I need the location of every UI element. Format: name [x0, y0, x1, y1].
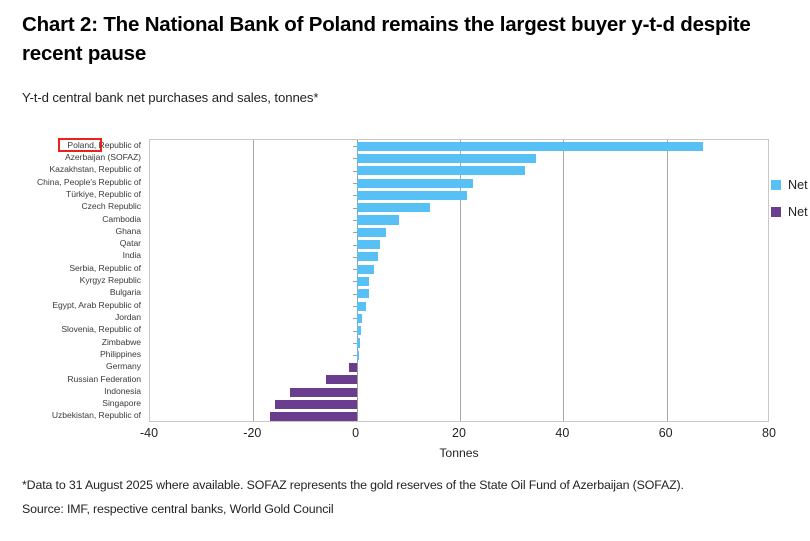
legend-swatch-net-purchases: [771, 180, 781, 190]
bar-row: [150, 152, 768, 164]
bar-china-people-s-republic-of: [357, 179, 474, 188]
category-label: Philippines: [100, 349, 141, 359]
bar-philippines: [357, 351, 359, 360]
bar-row: [150, 189, 768, 201]
bar-row: [150, 177, 768, 189]
category-label: Zimbabwe: [102, 337, 141, 347]
x-tick-label-0: 0: [352, 426, 359, 440]
x-axis: -40-20020406080 Tonnes: [149, 422, 769, 462]
bar-poland-republic-of: [357, 142, 703, 151]
footnote-data: *Data to 31 August 2025 where available.…: [22, 479, 802, 491]
bar-t-rkiye-republic-of: [357, 191, 467, 200]
title-block: Chart 2: The National Bank of Poland rem…: [22, 10, 790, 68]
bar-row: [150, 165, 768, 177]
bar-qatar: [357, 240, 381, 249]
category-label: India: [123, 250, 141, 260]
bar-row: [150, 238, 768, 250]
bar-indonesia: [290, 388, 357, 397]
legend-swatch-net-sales: [771, 207, 781, 217]
category-label: Ghana: [115, 226, 141, 236]
bar-uzbekistan-republic-of: [270, 412, 357, 421]
bar-row: [150, 202, 768, 214]
x-axis-title: Tonnes: [149, 446, 769, 460]
category-label: Czech Republic: [82, 201, 142, 211]
category-label: Uzbekistan, Republic of: [52, 410, 141, 420]
legend-item-net-sales: Net sales: [771, 205, 810, 219]
chart-subtitle: Y-t-d central bank net purchases and sal…: [22, 90, 318, 105]
bar-row: [150, 325, 768, 337]
bar-kyrgyz-republic: [357, 277, 369, 286]
legend-label-net-sales: Net sales: [788, 205, 810, 219]
bar-czech-republic: [357, 203, 430, 212]
plot-area: Net purchases Net sales: [149, 139, 769, 422]
bar-row: [150, 312, 768, 324]
bar-row: [150, 226, 768, 238]
category-label: Serbia, Republic of: [69, 263, 141, 273]
bar-ghana: [357, 228, 386, 237]
category-label: Singapore: [102, 398, 141, 408]
category-label: Türkiye, Republic of: [66, 189, 141, 199]
category-label: Germany: [106, 361, 141, 371]
bar-row: [150, 214, 768, 226]
bar-row: [150, 361, 768, 373]
category-label: Bulgaria: [110, 287, 141, 297]
category-label: Qatar: [120, 238, 141, 248]
bar-row: [150, 349, 768, 361]
x-tick-label--40: -40: [140, 426, 158, 440]
bar-row: [150, 251, 768, 263]
bar-azerbaijan-sofaz: [357, 154, 537, 163]
bar-germany: [349, 363, 356, 372]
x-tick-label--20: -20: [243, 426, 261, 440]
bar-egypt-arab-republic-of: [357, 302, 366, 311]
bar-row: [150, 386, 768, 398]
x-tick-label-80: 80: [762, 426, 776, 440]
bar-row: [150, 140, 768, 152]
category-axis-labels: Poland, Republic ofAzerbaijan (SOFAZ)Kaz…: [0, 139, 145, 422]
category-label: Kyrgyz Republic: [80, 275, 141, 285]
category-label: China, People's Republic of: [37, 177, 141, 187]
x-tick-label-20: 20: [452, 426, 466, 440]
bar-russian-federation: [326, 375, 356, 384]
bar-india: [357, 252, 378, 261]
chart-footer: *Data to 31 August 2025 where available.…: [22, 479, 802, 528]
bar-singapore: [275, 400, 357, 409]
category-label: Cambodia: [102, 214, 141, 224]
bar-row: [150, 398, 768, 410]
category-label: Kazakhstan, Republic of: [49, 164, 141, 174]
bar-row: [150, 300, 768, 312]
category-label: Jordan: [115, 312, 141, 322]
bar-slovenia-republic-of: [357, 326, 361, 335]
footnote-source: Source: IMF, respective central banks, W…: [22, 503, 802, 515]
category-label: Slovenia, Republic of: [61, 324, 141, 334]
x-tick-label-40: 40: [555, 426, 569, 440]
category-label: Indonesia: [104, 386, 141, 396]
bar-kazakhstan-republic-of: [357, 166, 525, 175]
bar-bulgaria: [357, 289, 369, 298]
category-label: Egypt, Arab Republic of: [52, 300, 141, 310]
legend-item-net-purchases: Net purchases: [771, 178, 810, 192]
bar-jordan: [357, 314, 363, 323]
category-label: Russian Federation: [67, 374, 141, 384]
category-label: Azerbaijan (SOFAZ): [65, 152, 141, 162]
bar-row: [150, 275, 768, 287]
legend-label-net-purchases: Net purchases: [788, 178, 810, 192]
bar-row: [150, 337, 768, 349]
chart-legend: Net purchases Net sales: [771, 178, 810, 232]
bar-serbia-republic-of: [357, 265, 374, 274]
bar-row: [150, 374, 768, 386]
page-title: Chart 2: The National Bank of Poland rem…: [22, 10, 790, 68]
bar-row: [150, 263, 768, 275]
poland-highlight-box: [58, 138, 102, 152]
bar-zimbabwe: [357, 338, 360, 347]
bar-cambodia: [357, 215, 399, 224]
bar-rows: [150, 140, 768, 421]
chart-figure: Poland, Republic ofAzerbaijan (SOFAZ)Kaz…: [0, 130, 810, 475]
x-tick-label-60: 60: [659, 426, 673, 440]
bar-row: [150, 288, 768, 300]
